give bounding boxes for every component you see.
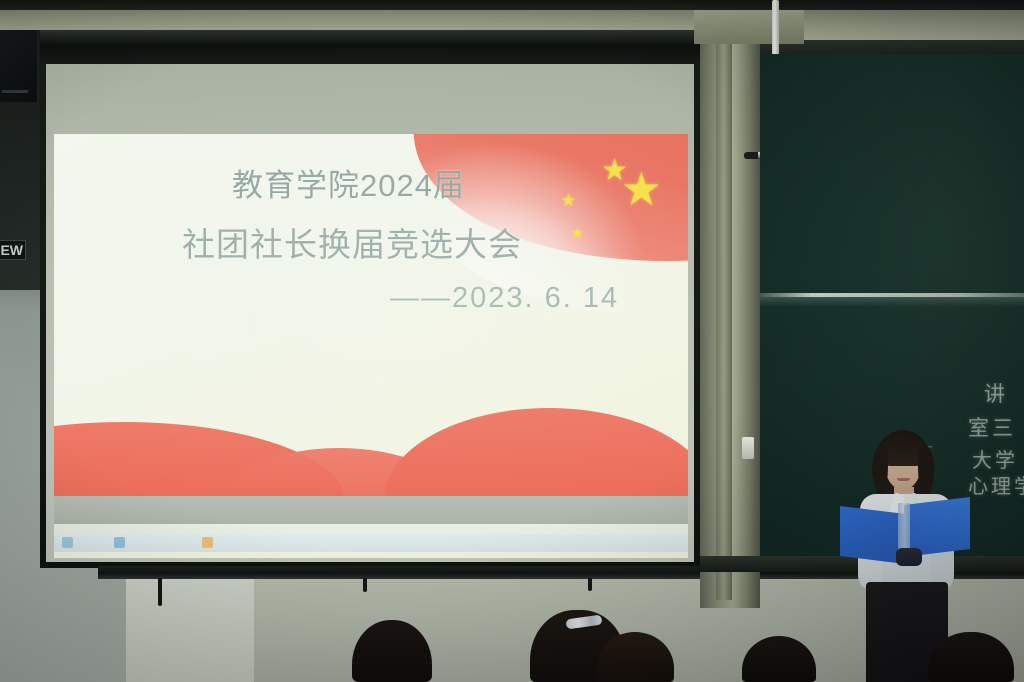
wall-sign-label: EW — [0, 242, 23, 258]
pole-crossbar-cap — [744, 152, 758, 159]
frame-knob — [742, 437, 754, 459]
presenter-eye-right — [908, 463, 914, 465]
chalk-text-line: 室三 — [968, 412, 1016, 442]
chalkboard-top-sheen — [760, 54, 1024, 294]
slide-title-line-2: 社团社长换届竞选大会 — [182, 218, 522, 266]
presenter-hair-right — [918, 446, 934, 496]
chalkboard-divider-glow — [760, 297, 1024, 307]
rail-hook-icon — [158, 578, 162, 606]
wall-sign: EW — [0, 240, 26, 260]
frame-top-beam — [694, 10, 804, 44]
slide-title-line-1: 教育学院2024届 — [232, 160, 465, 205]
mountain-decor-layer — [54, 398, 688, 558]
folder-icon[interactable] — [114, 537, 125, 548]
app-icon[interactable] — [202, 537, 213, 548]
browser-icon[interactable] — [62, 537, 73, 548]
mountain-shape — [384, 408, 688, 500]
wall-speaker — [0, 30, 38, 102]
presenter-eye-left — [892, 463, 898, 465]
rail-hook-icon — [363, 578, 367, 592]
slide-canvas: ★ ★ ★ ★ 教育学院2024届 社团社长换届竞选大会 ——2023. 6. … — [54, 134, 688, 558]
presenter-hands — [896, 548, 922, 566]
window-frame-inner — [716, 40, 732, 600]
chalk-text-line: 大学 — [972, 444, 1018, 473]
classroom-presentation-photo: EW ★ ★ ★ ★ 教育学院2024届 社团社长换届竞选大会 ——2023. … — [0, 0, 1024, 682]
wall-panel — [126, 578, 254, 682]
projection-screen: ★ ★ ★ ★ 教育学院2024届 社团社长换届竞选大会 ——2023. 6. … — [40, 30, 700, 568]
blue-folder-spine — [898, 503, 910, 553]
slide-gray-band — [54, 496, 688, 526]
slide-date-line: ——2023. 6. 14 — [390, 282, 619, 315]
rail-hook-icon — [588, 578, 592, 591]
slide-pale-band — [54, 524, 688, 534]
chalk-text-line: 心理学 — [968, 470, 1024, 499]
presenter-mouth — [897, 478, 910, 481]
screen-roller-casing — [40, 30, 700, 64]
projected-taskbar[interactable] — [54, 534, 688, 552]
speaker-slit — [2, 90, 28, 93]
chalk-text-line: 讲 — [984, 378, 1008, 408]
presenter-hair-left — [873, 446, 888, 494]
